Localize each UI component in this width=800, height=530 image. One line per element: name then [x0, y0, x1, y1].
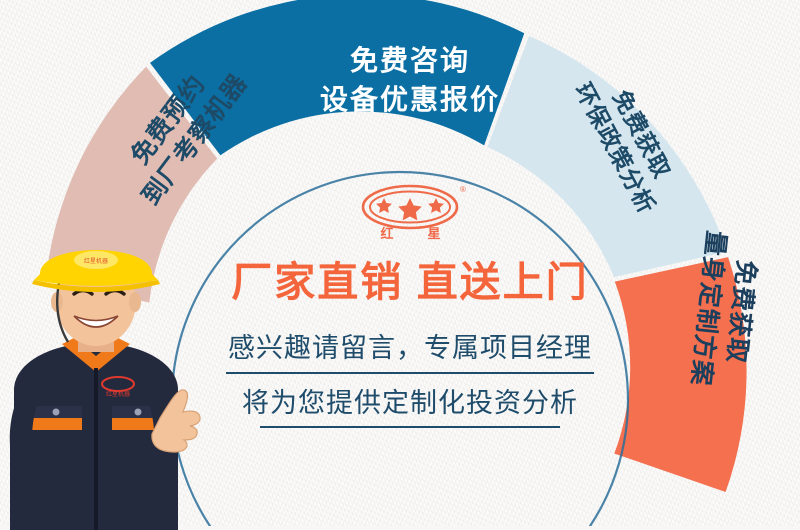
logo-wordmark-right: 星 — [427, 226, 440, 241]
ear-right — [129, 292, 141, 312]
arc-label-free-consult: 免费咨询 设备优惠报价 — [300, 38, 520, 122]
engineer-photo: 红星机器 红星机器 — [0, 240, 204, 530]
center-content: ® 红 星 厂家直销 直送上门 感兴趣请留言，专属项目经理 将为您提供定制化投资… — [195, 180, 625, 428]
uniform-pocket-left — [30, 416, 82, 430]
uniform-zipper — [94, 368, 98, 530]
divider-bottom — [260, 426, 560, 428]
logo-registered-mark: ® — [460, 185, 466, 194]
pocket-button-right — [135, 409, 142, 416]
logo-stars — [376, 198, 444, 220]
subline-2: 将为您提供定制化投资分析 — [195, 381, 625, 420]
arc-label-line: 设备优惠报价 — [300, 83, 520, 116]
headline: 厂家直销 直送上门 — [195, 248, 625, 308]
logo-mark: ® 红 星 — [350, 180, 470, 242]
divider-top — [226, 372, 594, 374]
subline-1: 感兴趣请留言，专属项目经理 — [195, 326, 625, 365]
hongxing-logo: ® 红 星 — [350, 180, 470, 242]
logo-wordmark-left: 红 — [380, 226, 393, 241]
star-icon — [398, 198, 422, 220]
star-icon — [428, 198, 444, 213]
svg-text:红星机器: 红星机器 — [106, 390, 130, 398]
banner-canvas: 免费预约 到厂考察机器 免费咨询 设备优惠报价 免费获取 环保政策分析 免费获取… — [0, 0, 800, 526]
star-icon — [376, 198, 392, 213]
helmet-badge-text: 红星机器 — [84, 257, 108, 265]
pocket-button-left — [53, 409, 60, 416]
arc-label-line: 免费咨询 — [300, 44, 520, 77]
